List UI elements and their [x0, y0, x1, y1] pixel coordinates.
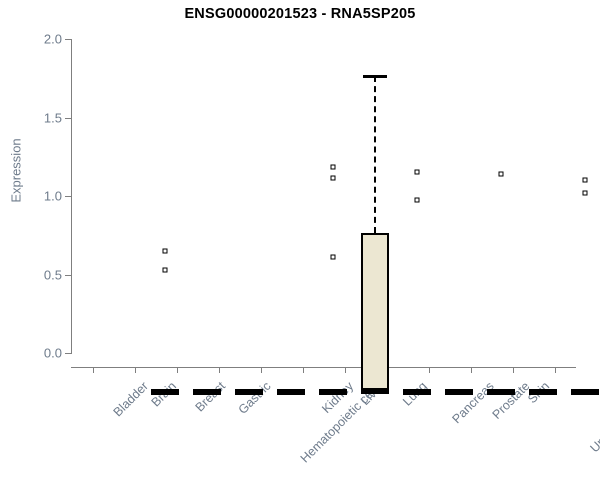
median-line	[361, 388, 389, 394]
outlier-point	[583, 190, 588, 195]
box-collapsed-median	[319, 389, 347, 395]
y-axis-tick	[65, 39, 71, 40]
x-axis-tick	[93, 367, 94, 373]
outlier-point	[331, 254, 336, 259]
x-axis-tick-label: Bladder	[111, 379, 151, 419]
y-axis-tick	[65, 275, 71, 276]
box	[361, 233, 389, 392]
x-axis-tick-label: Prostate	[490, 379, 533, 422]
box-collapsed-median	[235, 389, 263, 395]
y-axis-tick-label: 0.5	[0, 267, 62, 282]
whisker-upper-line	[374, 76, 376, 233]
box-collapsed-median	[193, 389, 221, 395]
outlier-point	[415, 170, 420, 175]
x-axis-tick	[429, 367, 430, 373]
whisker-upper-cap	[363, 75, 387, 78]
y-axis-tick	[65, 196, 71, 197]
x-axis-tick-label: Pancreas	[449, 379, 496, 426]
x-axis-tick	[219, 367, 220, 373]
y-axis-tick-label: 1.0	[0, 189, 62, 204]
x-axis-tick	[177, 367, 178, 373]
box-collapsed-median	[151, 389, 179, 395]
x-axis-tick	[513, 367, 514, 373]
x-axis-tick	[261, 367, 262, 373]
boxplot-chart: ENSG00000201523 - RNA5SP205 Expression 0…	[0, 0, 600, 500]
box-collapsed-median	[571, 389, 599, 395]
y-axis-tick-label: 1.5	[0, 110, 62, 125]
box-collapsed-median	[487, 389, 515, 395]
x-axis-tick	[345, 367, 346, 373]
box-collapsed-median	[277, 389, 305, 395]
x-axis-tick-label: Breast	[193, 379, 228, 414]
outlier-point	[163, 248, 168, 253]
x-axis-tick	[303, 367, 304, 373]
outlier-point	[583, 178, 588, 183]
y-axis-tick-label: 2.0	[0, 32, 62, 47]
y-axis-tick	[65, 353, 71, 354]
chart-title: ENSG00000201523 - RNA5SP205	[0, 6, 600, 22]
box-collapsed-median	[445, 389, 473, 395]
x-axis-tick-label: Gastric	[236, 379, 274, 417]
outlier-point	[499, 171, 504, 176]
x-axis-tick	[471, 367, 472, 373]
box-collapsed-median	[529, 389, 557, 395]
outlier-point	[163, 267, 168, 272]
y-axis-tick	[65, 118, 71, 119]
outlier-point	[331, 165, 336, 170]
outlier-point	[415, 198, 420, 203]
x-axis-line	[71, 367, 576, 368]
y-axis-tick-label: 0.0	[0, 346, 62, 361]
x-axis-tick	[555, 367, 556, 373]
y-axis-label: Expression	[9, 71, 24, 271]
x-axis-tick	[135, 367, 136, 373]
box-collapsed-median	[403, 389, 431, 395]
plot-area	[72, 39, 576, 353]
outlier-point	[331, 176, 336, 181]
